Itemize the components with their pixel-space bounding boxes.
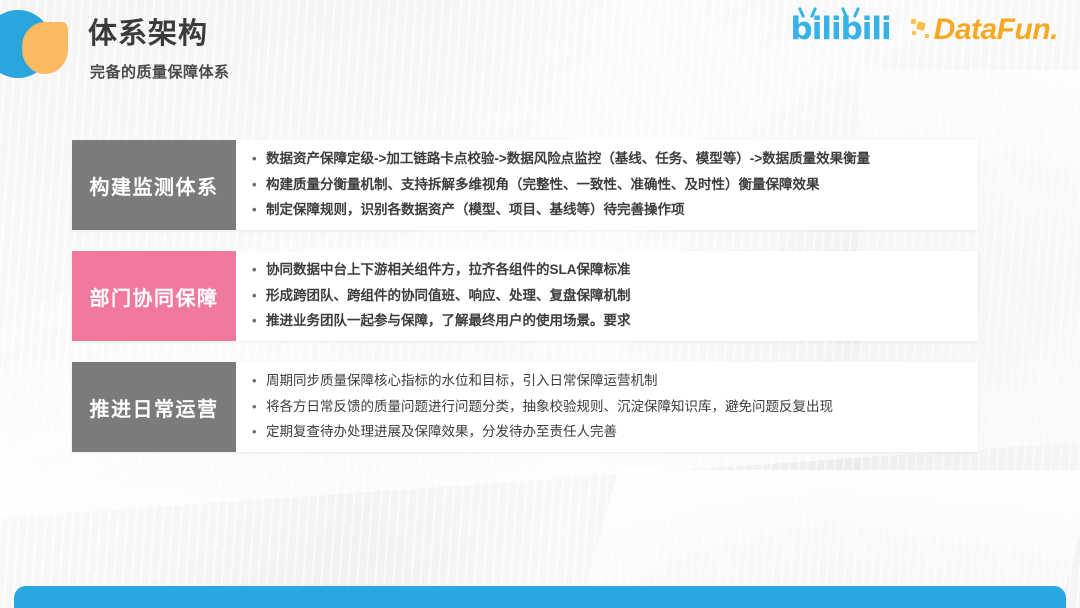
bilibili-logo: bilibili bbox=[791, 14, 891, 45]
bullet-item: • 构建质量分衡量机制、支持拆解多维视角（完整性、一致性、准确性、及时性）衡量保… bbox=[252, 172, 960, 198]
row-body: • 协同数据中台上下游相关组件方，拉齐各组件的SLA保障标准 • 形成跨团队、跨… bbox=[236, 251, 978, 341]
bullet-dot-icon: • bbox=[252, 371, 266, 392]
bullet-item: • 数据资产保障定级->加工链路卡点校验->数据风险点监控（基线、任务、模型等）… bbox=[252, 146, 960, 172]
bullet-dot-icon: • bbox=[252, 200, 266, 221]
bullet-text: 构建质量分衡量机制、支持拆解多维视角（完整性、一致性、准确性、及时性）衡量保障效… bbox=[266, 175, 960, 196]
background-highlight-c bbox=[581, 470, 1080, 600]
page-title: 体系架构 bbox=[88, 18, 230, 51]
bullet-dot-icon: • bbox=[252, 311, 266, 332]
title-block: 体系架构 完备的质量保障体系 bbox=[88, 18, 230, 82]
row-body: • 数据资产保障定级->加工链路卡点校验->数据风险点监控（基线、任务、模型等）… bbox=[236, 140, 978, 230]
logo-orange-blob-icon bbox=[22, 22, 68, 74]
row-label-text: 构建监测体系 bbox=[90, 171, 219, 200]
content-row: 推进日常运营 • 周期同步质量保障核心指标的水位和目标，引入日常保障运营机制 •… bbox=[72, 362, 978, 452]
row-label-block: 部门协同保障 bbox=[72, 251, 236, 341]
bullet-item: • 将各方日常反馈的质量问题进行问题分类，抽象校验规则、沉淀保障知识库，避免问题… bbox=[252, 394, 960, 420]
brand-logos: bilibili DataFun. bbox=[791, 14, 1058, 45]
bullet-text: 数据资产保障定级->加工链路卡点校验->数据风险点监控（基线、任务、模型等）->… bbox=[266, 149, 960, 170]
bullet-item: • 形成跨团队、跨组件的协同值班、响应、处理、复盘保障机制 bbox=[252, 283, 960, 309]
bilibili-ears-icon bbox=[800, 7, 872, 17]
bullet-item: • 协同数据中台上下游相关组件方，拉齐各组件的SLA保障标准 bbox=[252, 257, 960, 283]
bullet-item: • 定期复查待办处理进展及保障效果，分发待办至责任人完善 bbox=[252, 420, 960, 446]
bullet-dot-icon: • bbox=[252, 175, 266, 196]
row-label-text: 推进日常运营 bbox=[90, 393, 219, 422]
slide-root: 体系架构 完备的质量保障体系 bilibili DataFun. 构建监测体系 bbox=[0, 0, 1080, 608]
brand-mark-icon bbox=[0, 2, 74, 84]
bullet-text: 将各方日常反馈的质量问题进行问题分类，抽象校验规则、沉淀保障知识库，避免问题反复… bbox=[266, 397, 960, 418]
datafun-logo: DataFun. bbox=[911, 15, 1058, 45]
bullet-dot-icon: • bbox=[252, 422, 266, 443]
bullet-text: 推进业务团队一起参与保障，了解最终用户的使用场景。要求 bbox=[266, 311, 960, 332]
row-label-block: 推进日常运营 bbox=[72, 362, 236, 452]
row-body: • 周期同步质量保障核心指标的水位和目标，引入日常保障运营机制 • 将各方日常反… bbox=[236, 362, 978, 452]
row-label-text: 部门协同保障 bbox=[90, 282, 219, 311]
bullet-item: • 制定保障规则，识别各数据资产（模型、项目、基线等）待完善操作项 bbox=[252, 198, 960, 224]
content-row: 构建监测体系 • 数据资产保障定级->加工链路卡点校验->数据风险点监控（基线、… bbox=[72, 140, 978, 230]
bullet-dot-icon: • bbox=[252, 286, 266, 307]
page-subtitle: 完备的质量保障体系 bbox=[90, 61, 230, 82]
bullet-dot-icon: • bbox=[252, 260, 266, 281]
bullet-item: • 周期同步质量保障核心指标的水位和目标，引入日常保障运营机制 bbox=[252, 368, 960, 394]
content-rows: 构建监测体系 • 数据资产保障定级->加工链路卡点校验->数据风险点监控（基线、… bbox=[72, 140, 978, 473]
bullet-text: 制定保障规则，识别各数据资产（模型、项目、基线等）待完善操作项 bbox=[266, 200, 960, 221]
row-label-block: 构建监测体系 bbox=[72, 140, 236, 230]
bullet-item: • 推进业务团队一起参与保障，了解最终用户的使用场景。要求 bbox=[252, 309, 960, 335]
bullet-dot-icon: • bbox=[252, 397, 266, 418]
footer-accent-bar bbox=[14, 586, 1066, 608]
content-row: 部门协同保障 • 协同数据中台上下游相关组件方，拉齐各组件的SLA保障标准 • … bbox=[72, 251, 978, 341]
bullet-text: 定期复查待办处理进展及保障效果，分发待办至责任人完善 bbox=[266, 422, 960, 443]
bullet-text: 周期同步质量保障核心指标的水位和目标，引入日常保障运营机制 bbox=[266, 371, 960, 392]
bullet-text: 形成跨团队、跨组件的协同值班、响应、处理、复盘保障机制 bbox=[266, 286, 960, 307]
bullet-text: 协同数据中台上下游相关组件方，拉齐各组件的SLA保障标准 bbox=[266, 260, 960, 281]
datafun-spark-icon bbox=[911, 18, 931, 42]
datafun-logo-text: DataFun. bbox=[934, 15, 1058, 45]
bullet-dot-icon: • bbox=[252, 149, 266, 170]
